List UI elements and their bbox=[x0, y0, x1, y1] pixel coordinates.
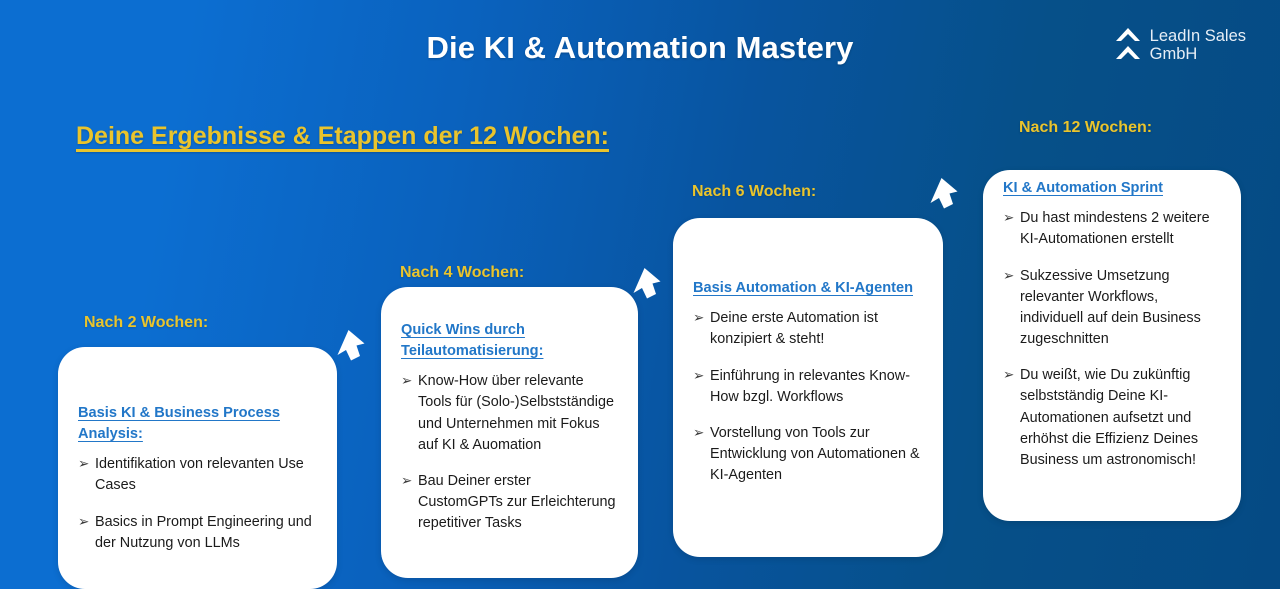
list-item-text: Know-How über relevante Tools für (Solo-… bbox=[418, 371, 618, 456]
stage-label-6-wochen: Nach 6 Wochen: bbox=[692, 183, 816, 201]
stage-card-2-wochen: Basis KI & Business Process Analysis: ➢ … bbox=[58, 347, 337, 589]
arrowhead-bullet-icon: ➢ bbox=[693, 423, 710, 444]
arrowhead-bullet-icon: ➢ bbox=[693, 366, 710, 387]
list-item: ➢ Du weißt, wie Du zukünftig selbstständ… bbox=[1003, 365, 1221, 471]
list-item: ➢ Vorstellung von Tools zur Entwicklung … bbox=[693, 423, 923, 487]
arrowhead-bullet-icon: ➢ bbox=[78, 454, 95, 475]
list-item-text: Du weißt, wie Du zukünftig selbstständig… bbox=[1020, 365, 1221, 471]
arrowhead-bullet-icon: ➢ bbox=[1003, 208, 1020, 229]
stage-bullet-list: ➢ Deine erste Automation ist konzipiert … bbox=[693, 308, 923, 486]
slide-root: { "slide": { "title": "Die KI & Automati… bbox=[0, 0, 1280, 589]
stage-card-heading: Basis Automation & KI-Agenten bbox=[693, 278, 923, 299]
arrowhead-bullet-icon: ➢ bbox=[1003, 266, 1020, 287]
arrowhead-bullet-icon: ➢ bbox=[1003, 365, 1020, 386]
stage-card-content: Basis Automation & KI-Agenten ➢ Deine er… bbox=[673, 218, 943, 486]
arrowhead-bullet-icon: ➢ bbox=[693, 308, 710, 329]
list-item-text: Sukzessive Umsetzung relevanter Workflow… bbox=[1020, 266, 1221, 351]
stage-label-2-wochen: Nach 2 Wochen: bbox=[84, 314, 208, 332]
list-item-text: Identifikation von relevanten Use Cases bbox=[95, 454, 317, 496]
stage-label-4-wochen: Nach 4 Wochen: bbox=[400, 264, 524, 282]
arrowhead-bullet-icon: ➢ bbox=[401, 471, 418, 492]
page-title: Die KI & Automation Mastery bbox=[0, 30, 1280, 66]
stage-label-12-wochen: Nach 12 Wochen: bbox=[1019, 119, 1152, 137]
stage-card-content: Quick Wins durch Teilautomatisierung: ➢ … bbox=[381, 287, 638, 535]
stage-card-content: Basis KI & Business Process Analysis: ➢ … bbox=[58, 347, 337, 554]
stage-card-6-wochen: Basis Automation & KI-Agenten ➢ Deine er… bbox=[673, 218, 943, 557]
list-item: ➢ Deine erste Automation ist konzipiert … bbox=[693, 308, 923, 350]
brand-name: LeadIn Sales GmbH bbox=[1150, 27, 1246, 64]
list-item: ➢ Basics in Prompt Engineering und der N… bbox=[78, 512, 317, 554]
brand-logo: LeadIn Sales GmbH bbox=[1115, 26, 1246, 64]
stage-bullet-list: ➢ Identifikation von relevanten Use Case… bbox=[78, 454, 317, 554]
list-item: ➢ Bau Deiner erster CustomGPTs zur Erlei… bbox=[401, 471, 618, 535]
list-item: ➢ Identifikation von relevanten Use Case… bbox=[78, 454, 317, 496]
slide-subtitle: Deine Ergebnisse & Etappen der 12 Wochen… bbox=[76, 122, 609, 151]
stage-card-heading: Quick Wins durch Teilautomatisierung: bbox=[401, 320, 618, 362]
list-item: ➢ Du hast mindestens 2 weitere KI-Automa… bbox=[1003, 208, 1221, 250]
stage-card-heading: KI & Automation Sprint bbox=[1003, 178, 1221, 199]
stage-bullet-list: ➢ Du hast mindestens 2 weitere KI-Automa… bbox=[1003, 208, 1221, 471]
arrowhead-bullet-icon: ➢ bbox=[401, 371, 418, 392]
list-item-text: Deine erste Automation ist konzipiert & … bbox=[710, 308, 923, 350]
stage-card-4-wochen: Quick Wins durch Teilautomatisierung: ➢ … bbox=[381, 287, 638, 578]
stage-bullet-list: ➢ Know-How über relevante Tools für (Sol… bbox=[401, 371, 618, 534]
list-item: ➢ Einführung in relevantes Know-How bzgl… bbox=[693, 366, 923, 408]
list-item-text: Basics in Prompt Engineering und der Nut… bbox=[95, 512, 317, 554]
stage-card-content: KI & Automation Sprint ➢ Du hast mindest… bbox=[983, 170, 1241, 471]
list-item-text: Bau Deiner erster CustomGPTs zur Erleich… bbox=[418, 471, 618, 535]
list-item: ➢ Know-How über relevante Tools für (Sol… bbox=[401, 371, 618, 456]
stage-card-heading: Basis KI & Business Process Analysis: bbox=[78, 403, 317, 445]
stage-card-12-wochen: KI & Automation Sprint ➢ Du hast mindest… bbox=[983, 170, 1241, 521]
double-chevron-up-icon bbox=[1115, 26, 1141, 64]
connector-arrow-3 bbox=[920, 176, 960, 222]
list-item: ➢ Sukzessive Umsetzung relevanter Workfl… bbox=[1003, 266, 1221, 351]
list-item-text: Du hast mindestens 2 weitere KI-Automati… bbox=[1020, 208, 1221, 250]
list-item-text: Vorstellung von Tools zur Entwicklung vo… bbox=[710, 423, 923, 487]
arrowhead-bullet-icon: ➢ bbox=[78, 512, 95, 533]
list-item-text: Einführung in relevantes Know-How bzgl. … bbox=[710, 366, 923, 408]
